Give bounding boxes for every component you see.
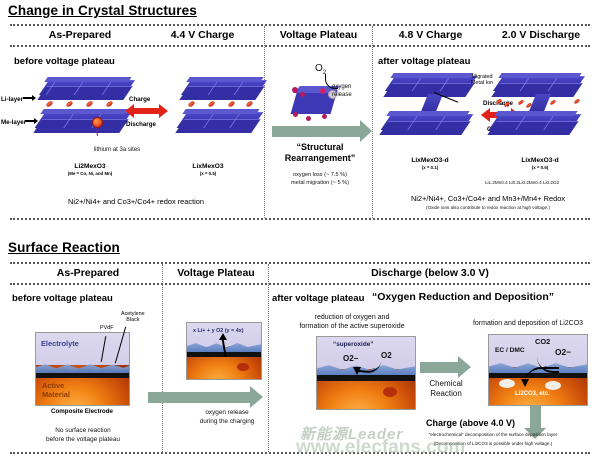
deposition-arrowhead [521,379,529,387]
crystal-col-44v-charge: 4.4 V Charge [145,29,260,41]
chemical-reaction-line1: Chemical [429,379,462,388]
co2-label: CO2 [535,337,550,346]
me-layer-arrowhead [34,118,38,124]
oxygen-reduction-headline: “Oxygen Reduction and Deposition” [372,291,554,303]
superoxide-note1: reduction of oxygen and [315,314,390,321]
divider-under-colheads [10,45,590,47]
oxygen-release-electrode-image: x Li+ + y O2 (y = 4x) [186,322,262,380]
divider-bottom-surface [10,452,590,454]
formula-extra: Li1.2Mn0.4 Li0.2Li0.2Mn0.4 Li0.2O2 [452,180,592,185]
oxygen-release-arrow-note: oxygen release during the charging [172,409,282,426]
formula-48v-condition: (x = 0.1) [382,165,478,170]
chemical-reaction-line2: Reaction [430,389,462,398]
structural-rearrangement-arrowhead [360,120,372,142]
solvent-label: EC / DMC [495,347,525,354]
discharge-label-left: Discharge [126,121,156,128]
section-title-surface: Surface Reaction [8,240,120,255]
charge-discharge-arrowhead-left-l [125,104,134,118]
formula-44v-main: LixMexO3 [192,163,223,170]
structural-rearrangement-arrow [272,126,360,137]
formula-48v-main: LixMexO3-d [411,157,448,164]
formula-20v-condition: (x = 0.6) [490,165,590,170]
crystal-structure-44v [176,74,266,154]
formula-as-prepared-condition: (Me = Co, Ni, and Mn) [36,171,144,176]
electrolyte-label: Electrolyte [41,339,79,348]
column-divider-right [372,26,373,218]
acetylene-black-label: Acetylene Black [121,311,145,324]
o2-symbol: O [315,63,323,74]
deposition-note: formation and deposition of Li2CO3 [460,319,596,328]
active-material-line2: Material [42,390,70,399]
surface-before-plateau-label: before voltage plateau [12,293,113,304]
redox-left: Ni2+/Ni4+ and Co3+/Co4+ redox reaction [16,197,256,206]
superoxide-species-o2: O2 [381,351,392,360]
charge-discharge-arrow-left [133,108,159,114]
oxygen-escape-arrowhead [219,333,227,340]
oxygen-release-arrow [148,392,250,403]
surface-col-voltage-plateau: Voltage Plateau [164,267,268,279]
rearrangement-line2: Rearrangement” [285,153,356,163]
formula-44v-condition: (x = 0.5) [160,171,256,176]
deposit-blob-sup [383,387,397,397]
redox-right: Ni2+/Ni4+, Co3+/Co4+ and Mn3+/Mn4+ Redox [380,194,596,203]
oxygen-release-note1: oxygen release [205,409,248,416]
divider-bottom-crystal [10,218,590,220]
surface-col-discharge: Discharge (below 3.0 V) [270,267,590,279]
charge-note-title: Charge (above 4.0 V) [426,418,515,428]
deposit-blob-mid [237,363,249,371]
divider-top-crystal [10,24,590,26]
deposit-blob-1 [499,379,515,388]
charge-note-arrow [530,406,541,428]
formula-as-prepared: Li2MexO3 (Me = Co, Ni, and Mn) [36,163,144,176]
formula-48v: LixMexO3-d (x = 0.1) [382,157,478,170]
superoxide-note: reduction of oxygen and formation of the… [288,313,416,331]
active-material-label: Active Material [42,382,70,399]
divider-top-surface [10,262,590,264]
crystal-col-20v-discharge: 2.0 V Discharge [487,29,595,41]
oxygen-release-label: oxygenrelease [332,84,372,100]
no-surface-reaction-note: No surface reaction before the voltage p… [22,427,144,444]
formula-44v: LixMexO3 (x = 0.5) [160,163,256,176]
deposit-blob-2 [545,381,561,390]
formula-20v-main: LixMexO3-d [521,157,558,164]
rearrangement-detail1: oxygen loss (~ 7.5 %) [293,172,347,178]
composite-electrode-caption: Composite Electrode [30,408,134,415]
crystal-before-plateau-label: before voltage plateau [14,56,115,67]
charge-discharge-arrowhead-left-r [159,104,168,118]
lithium-3a-label: lithium at 3a sites [82,147,152,155]
formula-as-prepared-main: Li2MexO3 [74,163,105,170]
superoxide-arrowhead [353,367,361,375]
oxygen-release-note2: during the charging [200,418,255,425]
chemical-reaction-label: Chemical Reaction [418,379,474,400]
crystal-col-as-prepared: As-Prepared [20,29,140,41]
chemical-reaction-arrowhead [458,356,471,378]
charge-note-line2: (Decomposition of Li2CO3 is possible und… [390,441,596,446]
no-surface-reaction-line1: No surface reaction [55,427,110,434]
deposition-electrode-image: CO2 EC / DMC O2− Li2CO3, etc. [488,334,588,406]
crystal-after-plateau-label: after voltage plateau [378,56,470,67]
surface-column-divider-left [162,264,163,452]
formula-20v: LixMexO3-d (x = 0.6) [490,157,590,170]
charge-label-left: Charge [129,96,150,103]
li-layer-label: Li-layer [1,96,23,103]
crystal-structure-20v [490,72,594,154]
structural-rearrangement-title: “Structural Rearrangement” [270,142,370,165]
li2co3-label: Li2CO3, etc. [515,391,550,397]
superoxide-species-o2-minus: O2− [343,354,358,363]
superoxide-electrode-image: “superoxide” O2− O2 [316,336,416,410]
crystal-col-48v-charge: 4.8 V Charge [378,29,483,41]
superoxide-note2: formation of the active superoxide [299,323,404,330]
surface-after-plateau-label: after voltage plateau [272,293,364,304]
superoxide-quote-label: “superoxide” [333,341,374,348]
pvdf-label: PVdF [100,325,113,331]
rearrangement-detail2: metal migration (~ 5 %) [291,180,349,186]
crystal-col-voltage-plateau: Voltage Plateau [266,29,371,41]
acetylene-black-line1: Acetylene [121,311,145,317]
rearrangement-line1: “Structural [296,142,343,152]
acetylene-black-line2: Black [126,317,139,323]
section-title-crystal: Change in Crystal Structures [8,3,197,18]
watermark-brand: 新能源Leader [300,423,403,444]
chemical-reaction-arrow [420,362,458,373]
charge-note-line1: “electrochemical” decomposition of the s… [390,432,596,437]
oxygen-release-arrowhead [250,386,263,408]
structural-rearrangement-detail: oxygen loss (~ 7.5 %) metal migration (~… [270,172,370,187]
li-layer-arrowhead [32,95,36,101]
divider-under-colheads-surface [10,283,590,285]
me-layer-label: Me-layer [1,119,26,126]
redox-right-note: (Oxide ions also contribute to redox rea… [380,205,596,210]
no-surface-reaction-line2: before the voltage plateau [46,436,120,443]
charge-discharge-arrowhead-right-l [481,108,490,122]
surface-col-as-prepared: As-Prepared [18,267,158,279]
composite-electrode-image: Electrolyte Active Material [35,332,130,406]
